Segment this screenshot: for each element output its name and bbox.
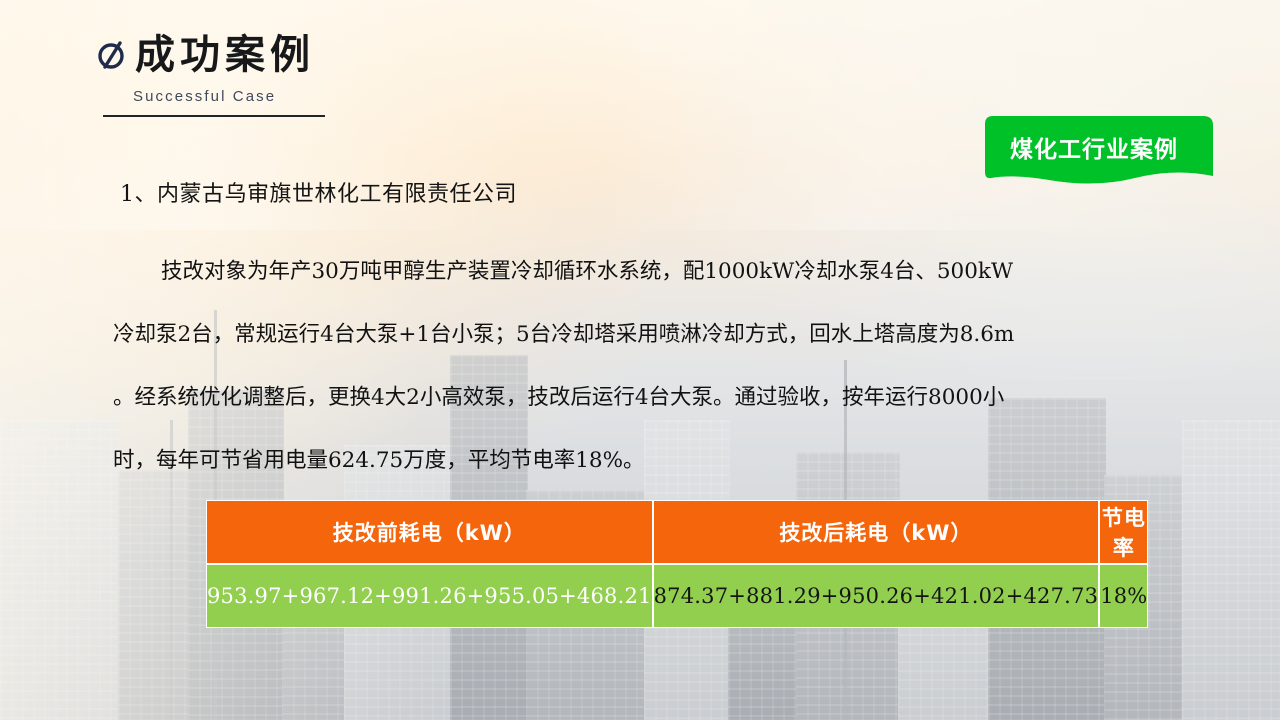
null-circle-slash-icon	[95, 38, 129, 72]
paragraph-line: 时，每年可节省用电量624.75万度，平均节电率18%。	[113, 429, 1181, 492]
table-header-after: 技改后耗电（kW）	[653, 500, 1100, 564]
title-row: 成功案例	[95, 34, 325, 76]
title-divider	[103, 115, 325, 117]
paragraph-line: 冷却泵2台，常规运行4台大泵+1台小泵；5台冷却塔采用喷淋冷却方式，回水上塔高度…	[113, 303, 1181, 366]
table-cell-before-values: 953.97+967.12+991.26+955.05+468.21	[206, 564, 653, 628]
table-cell-saving-rate: 18%	[1099, 564, 1148, 628]
table-header-before: 技改前耗电（kW）	[206, 500, 653, 564]
slide-header: 成功案例 Successful Case	[95, 34, 325, 117]
page-title: 成功案例	[135, 34, 315, 76]
table-header-row: 技改前耗电（kW） 技改后耗电（kW） 节电率	[206, 500, 1148, 564]
case-description: 技改对象为年产30万吨甲醇生产装置冷却循环水系统，配1000kW冷却水泵4台、5…	[113, 240, 1181, 492]
industry-badge-label: 煤化工行业案例	[975, 130, 1213, 164]
paragraph-line: 技改对象为年产30万吨甲醇生产装置冷却循环水系统，配1000kW冷却水泵4台、5…	[113, 240, 1181, 303]
table-row: 953.97+967.12+991.26+955.05+468.21 874.3…	[206, 564, 1148, 628]
paragraph-line: 。经系统优化调整后，更换4大2小高效泵，技改后运行4台大泵。通过验收，按年运行8…	[113, 366, 1181, 429]
energy-comparison-table: 技改前耗电（kW） 技改后耗电（kW） 节电率 953.97+967.12+99…	[206, 500, 1148, 628]
slide-canvas: 成功案例 Successful Case 煤化工行业案例 1、内蒙古乌审旗世林化…	[0, 0, 1280, 720]
page-subtitle: Successful Case	[133, 88, 325, 105]
table-cell-after-values: 874.37+881.29+950.26+421.02+427.73	[653, 564, 1100, 628]
table-header-saving-rate: 节电率	[1099, 500, 1148, 564]
industry-badge: 煤化工行业案例	[975, 116, 1213, 188]
case-item-heading: 1、内蒙古乌审旗世林化工有限责任公司	[120, 176, 517, 208]
